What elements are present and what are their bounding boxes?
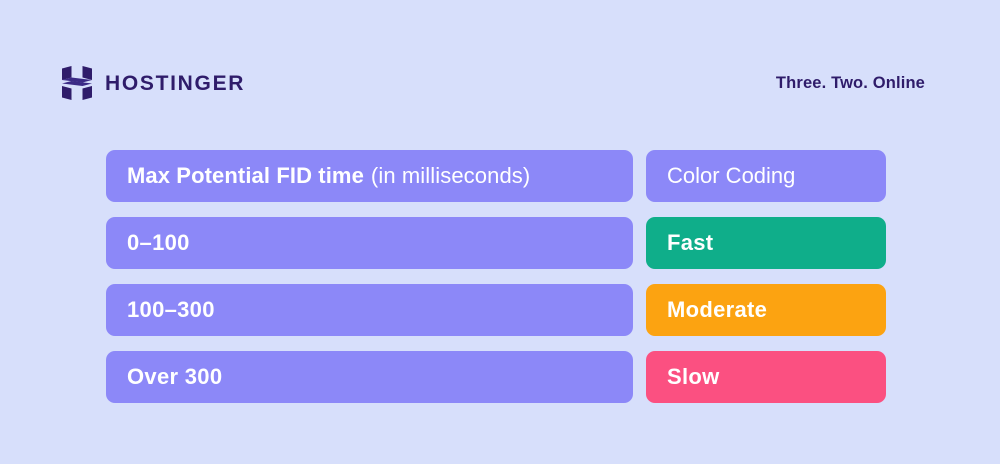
table-row: 0–100 Fast	[106, 217, 886, 269]
header-metric-unit: (in milliseconds)	[371, 163, 530, 189]
page-header: HOSTINGER Three. Two. Online	[0, 58, 1000, 108]
header-metric-strong: Max Potential FID time	[127, 163, 364, 189]
row-metric-cell: 0–100	[106, 217, 633, 269]
brand-wordmark: HOSTINGER	[105, 73, 245, 94]
header-cell-color-coding: Color Coding	[646, 150, 886, 202]
row-rating-cell: Slow	[646, 351, 886, 403]
row-rating-label: Fast	[667, 230, 713, 256]
row-rating-cell: Fast	[646, 217, 886, 269]
row-rating-label: Moderate	[667, 297, 767, 323]
brand-lockup: HOSTINGER	[62, 66, 245, 100]
fid-color-coding-table: Max Potential FID time (in milliseconds)…	[106, 150, 886, 403]
table-row: 100–300 Moderate	[106, 284, 886, 336]
header-cell-metric: Max Potential FID time (in milliseconds)	[106, 150, 633, 202]
row-metric-label: 0–100	[127, 230, 190, 256]
row-metric-label: 100–300	[127, 297, 215, 323]
table-header-row: Max Potential FID time (in milliseconds)…	[106, 150, 886, 202]
hostinger-h-logo-icon	[62, 66, 92, 100]
table-row: Over 300 Slow	[106, 351, 886, 403]
row-metric-label: Over 300	[127, 364, 222, 390]
row-metric-cell: Over 300	[106, 351, 633, 403]
row-rating-cell: Moderate	[646, 284, 886, 336]
row-metric-cell: 100–300	[106, 284, 633, 336]
brand-tagline: Three. Two. Online	[776, 74, 925, 93]
row-rating-label: Slow	[667, 364, 720, 390]
header-color-coding-label: Color Coding	[667, 163, 795, 189]
